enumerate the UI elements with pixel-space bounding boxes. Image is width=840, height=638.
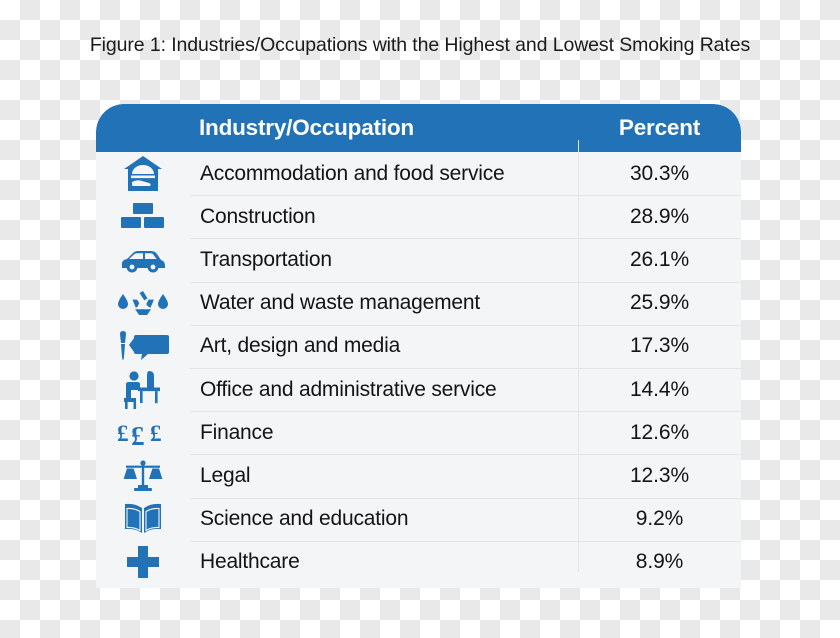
svg-text:£: £ [150, 421, 162, 446]
transportation-car-icon [96, 238, 190, 281]
table-row: Legal 12.3% [96, 454, 741, 497]
column-header-industry: Industry/Occupation [199, 115, 414, 141]
finance-pound-icon: £ £ £ [96, 411, 190, 454]
row-label: Art, design and media [190, 334, 578, 358]
water-waste-recycle-icon [96, 282, 190, 325]
smoking-rates-table: Industry/Occupation Percent Accommodatio… [96, 104, 741, 588]
finance-row: £ £ £ Finance 12.6% [96, 411, 741, 454]
row-percent: 30.3% [578, 162, 741, 186]
table-row: Accommodation and food service 30.3% [96, 152, 741, 195]
column-header-percent: Percent [578, 115, 741, 141]
svg-text:£: £ [117, 421, 129, 446]
row-label: Legal [190, 464, 578, 488]
table-row: Construction 28.9% [96, 195, 741, 238]
row-percent: 14.4% [578, 378, 741, 402]
table-row: Water and waste management 25.9% [96, 282, 741, 325]
table-header-row: Industry/Occupation Percent [96, 104, 741, 152]
row-label: Finance [190, 421, 578, 445]
legal-scales-icon [96, 454, 190, 497]
row-label: Construction [190, 205, 578, 229]
row-percent: 8.9% [578, 550, 741, 574]
table-body: Accommodation and food service 30.3% Con… [96, 152, 741, 588]
table-row: Art, design and media 17.3% [96, 325, 741, 368]
svg-text:£: £ [131, 421, 145, 449]
row-percent: 26.1% [578, 248, 741, 272]
row-percent: 25.9% [578, 291, 741, 315]
healthcare-cross-icon [96, 541, 190, 584]
row-label: Science and education [190, 507, 578, 531]
table-row: Science and education 9.2% [96, 498, 741, 541]
art-design-media-icon [96, 325, 190, 368]
table-row: Healthcare 8.9% [96, 541, 741, 584]
row-label: Healthcare [190, 550, 578, 574]
table-row: Transportation 26.1% [96, 238, 741, 281]
row-percent: 12.3% [578, 464, 741, 488]
row-percent: 28.9% [578, 205, 741, 229]
page-title: Figure 1: Industries/Occupations with th… [0, 34, 840, 57]
row-label: Accommodation and food service [190, 162, 578, 186]
table-row: Office and administrative service 14.4% [96, 368, 741, 411]
accommodation-food-icon [96, 152, 190, 195]
row-label: Office and administrative service [190, 378, 578, 402]
science-education-book-icon [96, 498, 190, 541]
row-label: Water and waste management [190, 291, 578, 315]
row-percent: 9.2% [578, 507, 741, 531]
row-label: Transportation [190, 248, 578, 272]
row-percent: 17.3% [578, 334, 741, 358]
row-percent: 12.6% [578, 421, 741, 445]
construction-bricks-icon [96, 195, 190, 238]
office-desk-worker-icon [96, 368, 190, 411]
